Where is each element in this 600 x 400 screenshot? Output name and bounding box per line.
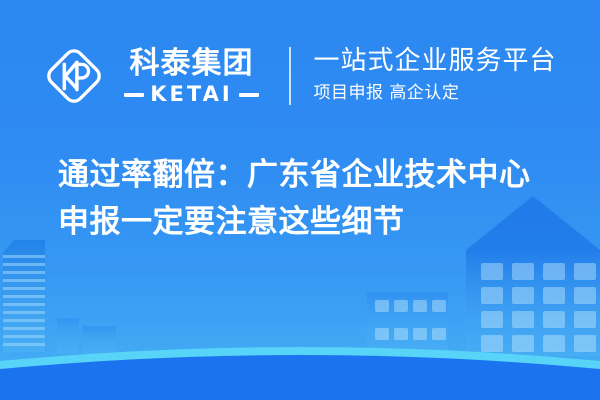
slogan-primary: 一站式企业服务平台: [313, 47, 556, 76]
logo-rule-right: [239, 93, 259, 97]
article-title-line-1: 通过率翻倍：广东省企业技术中心: [58, 152, 558, 199]
brand-slogan: 一站式企业服务平台 项目申报 高企认定: [313, 47, 556, 105]
banner-header: 科泰集团 KETAI 一站式企业服务平台 项目申报 高企认定: [0, 36, 600, 116]
logo-company-name-en: KETAI: [150, 84, 232, 105]
logo-company-name-cn: 科泰集团: [115, 47, 267, 81]
logo-rule-left: [124, 93, 144, 97]
header-divider: [289, 47, 291, 105]
logo-company-name-en-row: KETAI: [124, 84, 258, 105]
article-title: 通过率翻倍：广东省企业技术中心 申报一定要注意这些细节: [58, 152, 558, 245]
article-cover-banner: 科泰集团 KETAI 一站式企业服务平台 项目申报 高企认定 通过率翻倍：广东省…: [0, 0, 600, 400]
brand-logo[interactable]: 科泰集团 KETAI: [43, 45, 267, 107]
bottom-wave-decoration: [0, 320, 600, 400]
article-title-line-2: 申报一定要注意这些细节: [58, 199, 558, 246]
ketai-diamond-kp-monogram-icon: [43, 45, 105, 107]
slogan-secondary: 项目申报 高企认定: [313, 82, 556, 105]
